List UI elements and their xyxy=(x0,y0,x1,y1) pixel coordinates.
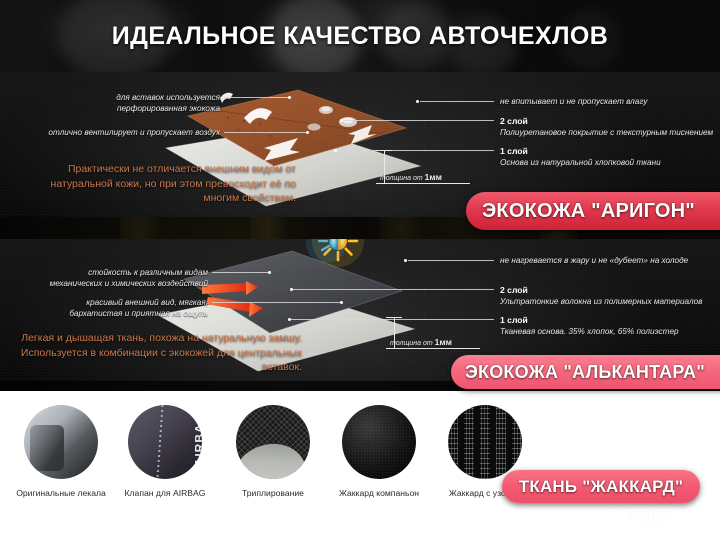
swatch-jacquard-pattern xyxy=(448,405,522,479)
arigon-thickness-label: толщина от 1мм xyxy=(380,172,442,182)
leader-line-waterproof xyxy=(420,101,494,102)
promo-image-root: ИДЕАЛЬНОЕ КАЧЕСТВО АВТОЧЕХЛОВ xyxy=(0,0,720,540)
arigon-summary: Практически не отличается внешним видом … xyxy=(14,162,296,206)
thickness-prefix: толщина от xyxy=(390,340,435,347)
avito-watermark-text: Avito xyxy=(625,506,670,528)
thickness-value: 1мм xyxy=(435,337,452,347)
alkantara-summary: Легкая и дышащая ткань, похожа на натура… xyxy=(4,331,302,375)
callout-arigon-waterproof: не впитывает и не пропускает влагу xyxy=(500,96,647,107)
leader-line-perforation xyxy=(224,97,288,98)
callout-alkantara-feel: красивый внешний вид, мягкая, бархатиста… xyxy=(12,297,208,319)
thickness-prefix: толщина от xyxy=(380,175,425,182)
arigon-thickness-callout: толщина от 1мм xyxy=(360,150,490,190)
avito-logo-icon xyxy=(604,508,622,526)
callout-alkantara-durability: стойкость к различным видам механических… xyxy=(12,267,208,289)
leader-dot-temperature xyxy=(404,259,407,262)
leader-dot-waterproof xyxy=(416,100,419,103)
leader-line-temperature xyxy=(408,260,494,261)
callout-line-1: стойкость к различным видам xyxy=(88,268,208,277)
callout-line-2: механических и химических воздействий xyxy=(50,279,208,288)
alkantara-thickness-callout: толщина от 1мм xyxy=(370,317,500,357)
swatch-jacquard-companion xyxy=(342,405,416,479)
leader-dot-feel xyxy=(340,301,343,304)
alkantara-layer1-title: 1 слой xyxy=(500,315,528,325)
alkantara-layer2-title: 2 слой xyxy=(500,285,528,295)
leader-line-alk-layer2-b xyxy=(293,289,425,290)
callout-alkantara-temperature: не нагревается в жару и не «дубеет» на х… xyxy=(500,255,688,266)
callout-line-2: бархатистая и приятная на ощупь xyxy=(69,309,208,318)
arigon-layer2-title: 2 слой xyxy=(500,116,528,126)
leader-line-layer2 xyxy=(424,120,494,121)
leader-dot-perforation xyxy=(288,96,291,99)
callout-line-2: перфорированная экокожа xyxy=(117,104,220,113)
badge-alkantara: ЭКОКОЖА "АЛЬКАНТАРА" xyxy=(451,355,720,389)
header-banner: ИДЕАЛЬНОЕ КАЧЕСТВО АВТОЧЕХЛОВ xyxy=(0,0,720,72)
leader-line-layer2-b xyxy=(343,120,425,121)
leader-line-ventilation xyxy=(224,132,306,133)
airbag-text: AIRBAG xyxy=(192,413,202,466)
leader-dot-ventilation xyxy=(306,131,309,134)
callout-line-1: для вставок используется xyxy=(116,93,220,102)
callout-arigon-perforation: для вставок используется перфорированная… xyxy=(18,92,220,114)
callout-line-1: отлично вентилирует и пропускает воздух xyxy=(48,128,220,137)
arigon-layer2-desc: Полиуретановое покрытие с текстурным тис… xyxy=(500,128,713,137)
arigon-layer1-desc: Основа из натуральной хлопковой ткани xyxy=(500,158,661,167)
fabric-texture xyxy=(342,405,416,479)
alkantara-layer2-desc: Ультратонкие волокна из полимерных матер… xyxy=(500,297,702,306)
page-title: ИДЕАЛЬНОЕ КАЧЕСТВО АВТОЧЕХЛОВ xyxy=(0,0,720,72)
stitch-line xyxy=(156,405,163,479)
swatch-airbag-flap: AIRBAG xyxy=(128,405,202,479)
leader-line-feel xyxy=(212,302,340,303)
callout-line-1: красивый внешний вид, мягкая, xyxy=(86,298,208,307)
alkantara-layer1-desc: Тканевая основа. 35% хлопок, 65% полиэст… xyxy=(500,327,679,336)
pattern-texture xyxy=(448,405,522,479)
badge-arigon: ЭКОКОЖА "АРИГОН" xyxy=(466,192,720,230)
alkantara-thickness-label: толщина от 1мм xyxy=(390,337,452,347)
swatch-triplex xyxy=(236,405,310,479)
arigon-layer1-title: 1 слой xyxy=(500,146,528,156)
thickness-value: 1мм xyxy=(425,172,442,182)
avito-watermark: Avito xyxy=(604,506,670,528)
badge-jacquard: ТКАНЬ "ЖАККАРД" xyxy=(502,470,700,503)
callout-arigon-ventilation: отлично вентилирует и пропускает воздух xyxy=(4,127,220,138)
leader-line-alk-layer2 xyxy=(424,289,494,290)
leader-line-durability xyxy=(212,272,268,273)
leader-dot-durability xyxy=(268,271,271,274)
swatch-original-patterns xyxy=(24,405,98,479)
